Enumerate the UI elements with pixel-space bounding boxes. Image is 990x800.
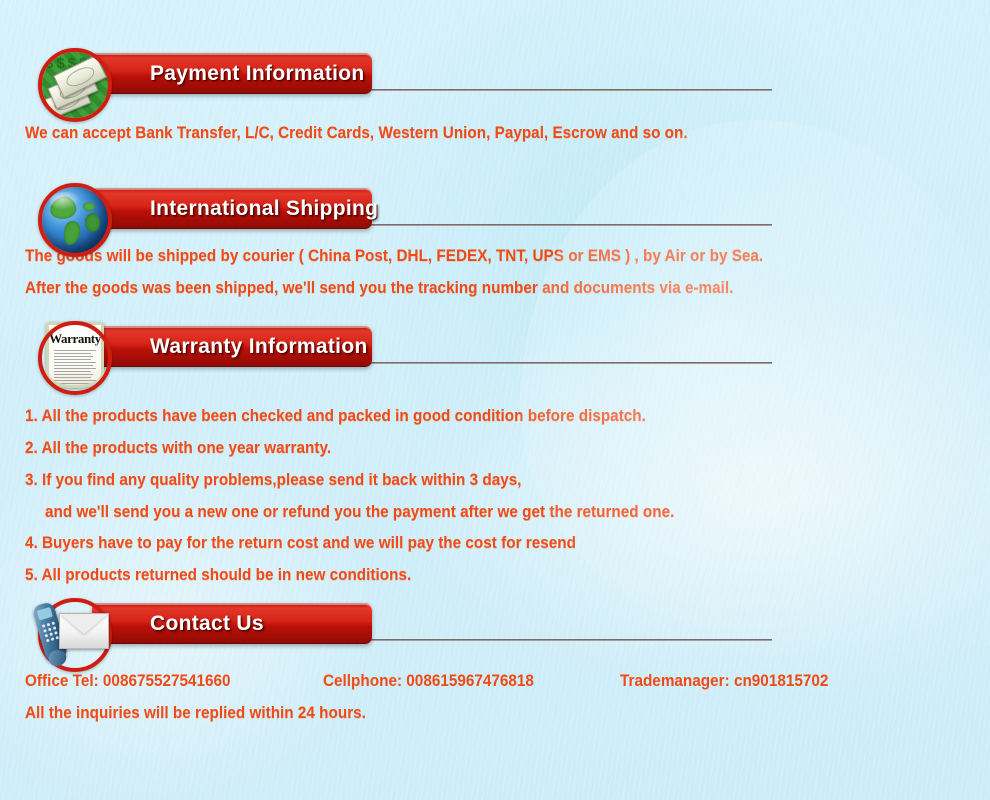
warranty-divider-rule	[370, 362, 772, 364]
shipping-text-line-1: The goods will be shipped by courier ( C…	[25, 246, 763, 266]
contact-text-line-1: All the inquiries will be replied within…	[25, 703, 366, 723]
contact-details-row: Office Tel: 008675527541660Cellphone: 00…	[25, 671, 851, 691]
shipping-text-line-2: After the goods was been shipped, we'll …	[25, 278, 733, 298]
trademanager: Trademanager: cn901815702	[620, 671, 828, 691]
payment-banner: Payment Information	[92, 53, 372, 94]
payment-text-line-1: We can accept Bank Transfer, L/C, Credit…	[25, 123, 688, 143]
shipping-banner-row: International Shipping	[0, 180, 990, 242]
warranty-banner-title: Warranty Information	[150, 335, 368, 359]
section-shipping: International Shipping The goods will be…	[0, 180, 990, 242]
payment-divider-rule	[370, 89, 772, 91]
shipping-divider-rule	[370, 224, 772, 226]
payment-banner-title: Payment Information	[150, 62, 365, 86]
warranty-text-line-2: 2. All the products with one year warran…	[25, 438, 331, 458]
shipping-banner: International Shipping	[92, 188, 372, 229]
page-root: Payment Information $$$$$$$$$$$$ We can …	[0, 0, 990, 800]
contact-banner: Contact Us	[92, 603, 372, 644]
cellphone: Cellphone: 008615967476818	[323, 671, 534, 691]
contact-banner-title: Contact Us	[150, 612, 264, 636]
warranty-banner: Warranty Information	[92, 326, 372, 367]
shipping-banner-title: International Shipping	[150, 197, 378, 221]
money-icon: $$$$$$$$$$$$	[33, 45, 117, 125]
payment-banner-row: Payment Information $$$$$$$$$$$$	[0, 45, 990, 107]
section-warranty: Warranty Information Warranty 1. All the…	[0, 318, 990, 380]
warranty-text-line-6: 5. All products returned should be in ne…	[25, 565, 411, 585]
icon-ring	[38, 48, 112, 122]
warranty-certificate-icon: Warranty	[33, 318, 117, 398]
icon-ring	[38, 183, 112, 257]
warranty-text-line-1: 1. All the products have been checked an…	[25, 406, 646, 426]
warranty-banner-row: Warranty Information Warranty	[0, 318, 990, 380]
envelope-icon	[59, 613, 109, 649]
contact-banner-row: Contact Us	[0, 595, 990, 657]
section-payment: Payment Information $$$$$$$$$$$$ We can …	[0, 45, 990, 107]
warranty-text-line-4: and we'll send you a new one or refund y…	[45, 502, 674, 522]
section-contact: Contact Us Office Tel: 008675527541660Ce…	[0, 595, 990, 657]
icon-ring	[38, 321, 112, 395]
contact-divider-rule	[370, 639, 772, 641]
phone-screen	[37, 607, 53, 620]
globe-icon	[33, 180, 117, 260]
envelope-flap	[60, 614, 108, 634]
warranty-text-line-5: 4. Buyers have to pay for the return cos…	[25, 533, 576, 553]
phone-keypad	[41, 620, 60, 643]
warranty-text-line-3: 3. If you find any quality problems,plea…	[25, 470, 522, 490]
phone-envelope-icon	[33, 595, 117, 675]
